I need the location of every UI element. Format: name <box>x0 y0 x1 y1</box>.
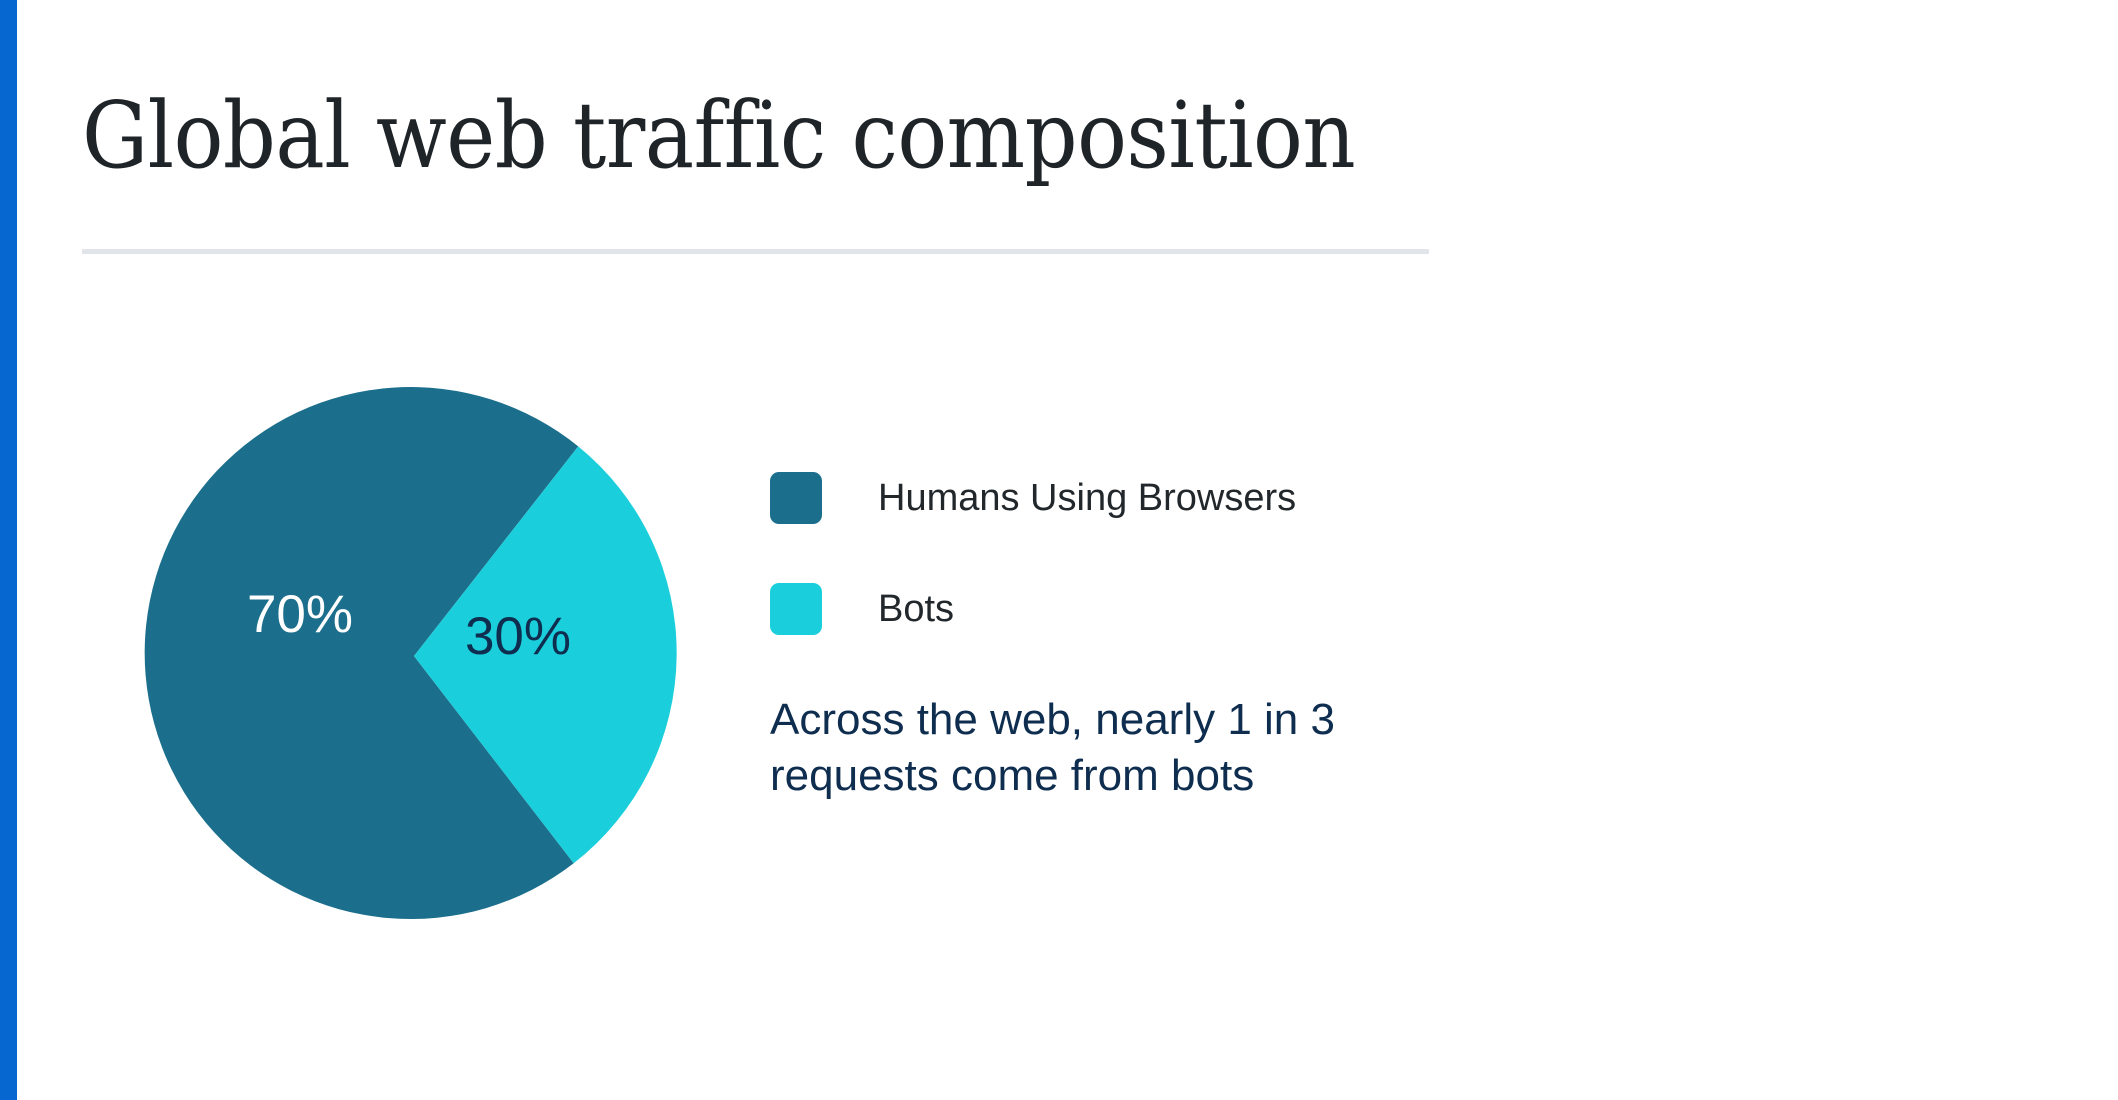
pie-label-humans: 70% <box>247 585 353 644</box>
page-title: Global web traffic composition <box>82 88 1355 185</box>
legend-swatch-icon-bots <box>770 583 822 635</box>
left-accent-bar <box>0 0 17 1100</box>
title-divider <box>82 249 1429 254</box>
pie-label-bots: 30% <box>465 607 571 666</box>
slide-canvas: Global web traffic composition 70% 30% H… <box>0 0 2118 1100</box>
legend: Humans Using Browsers Bots Across the we… <box>770 470 1670 805</box>
legend-item-bots[interactable]: Bots <box>770 581 1670 637</box>
legend-item-humans[interactable]: Humans Using Browsers <box>770 470 1670 526</box>
pie-chart: 70% 30% <box>148 390 680 922</box>
legend-swatch-icon-humans <box>770 472 822 524</box>
pie-chart-svg: 70% 30% <box>148 390 680 922</box>
chart-caption: Across the web, nearly 1 in 3 requests c… <box>770 692 1410 805</box>
legend-label-bots: Bots <box>878 590 954 628</box>
legend-label-humans: Humans Using Browsers <box>878 479 1296 517</box>
